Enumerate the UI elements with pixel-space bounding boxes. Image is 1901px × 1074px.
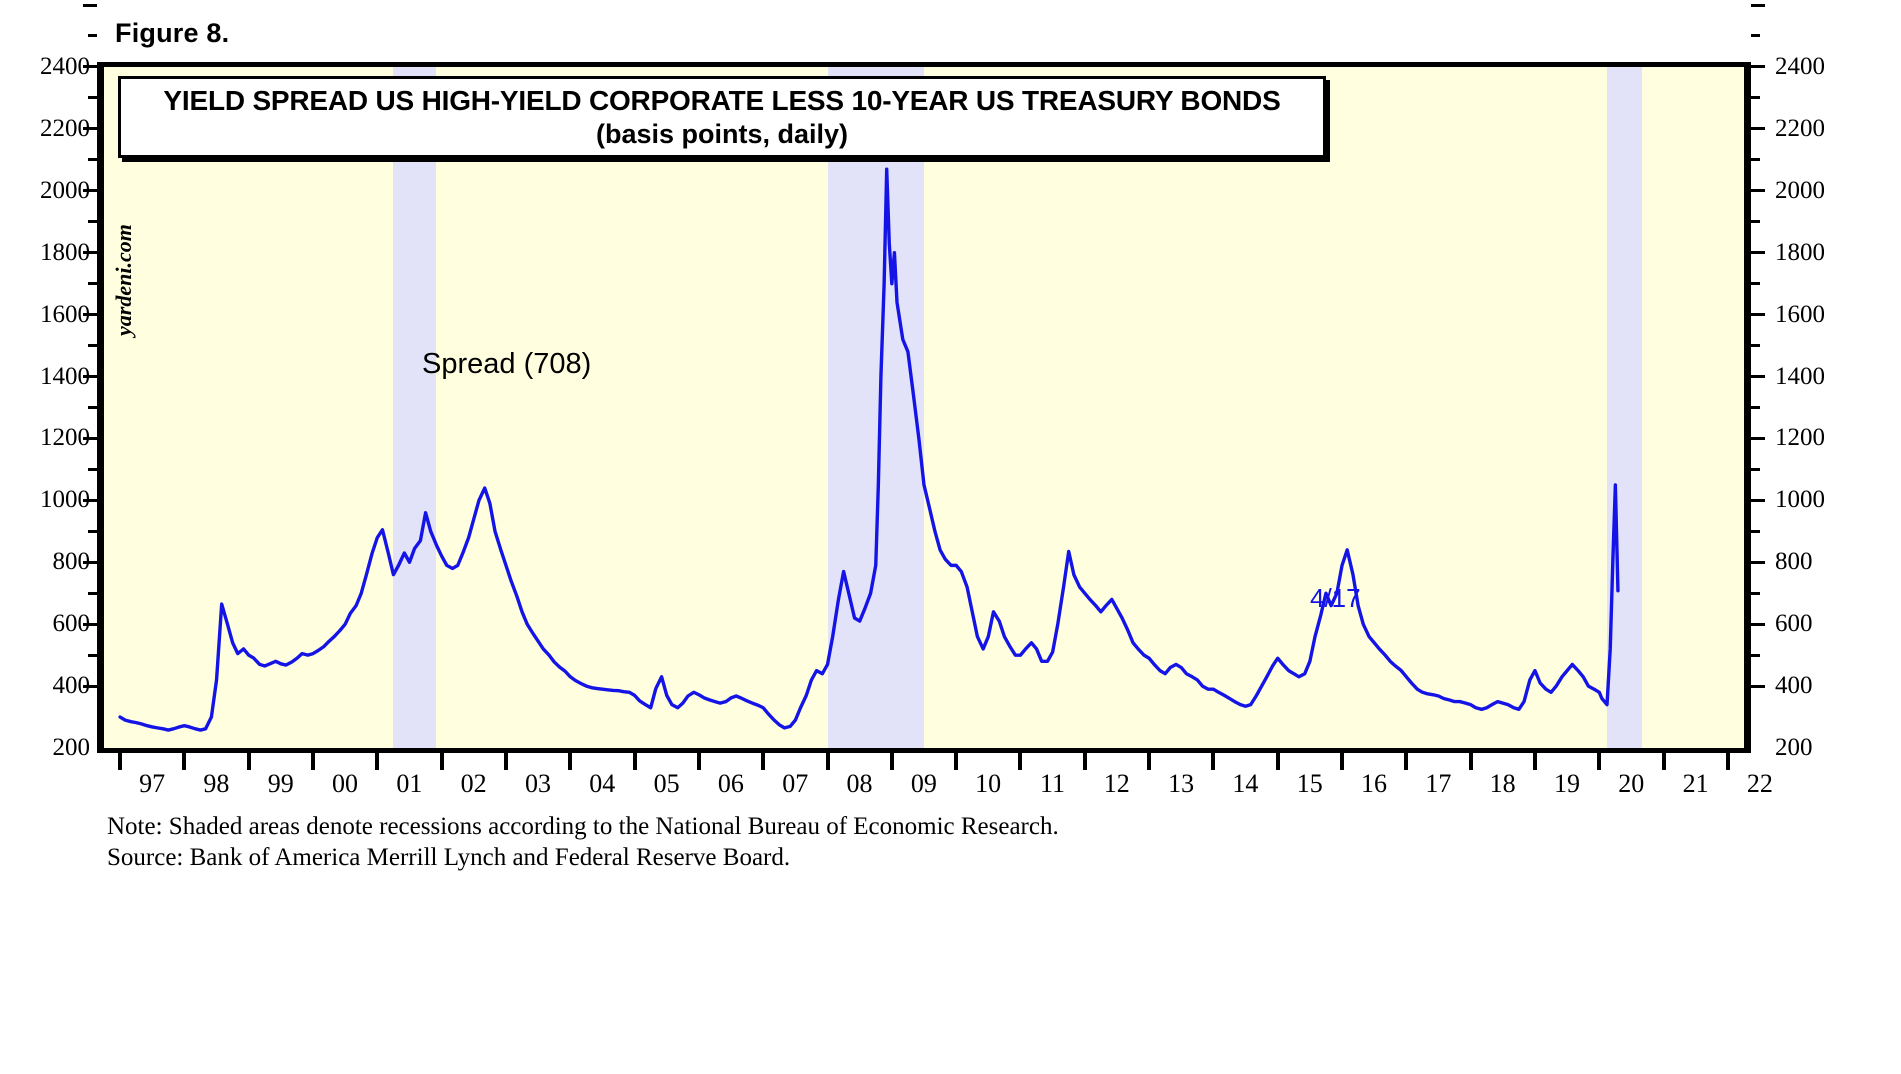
x-axis-tick-mark bbox=[118, 753, 122, 770]
x-axis-tick-label: 15 bbox=[1297, 769, 1323, 799]
x-axis-tick-label: 05 bbox=[654, 769, 680, 799]
y-axis-tick-mark-left bbox=[83, 251, 97, 254]
yardeni-watermark: yardeni.com bbox=[111, 224, 137, 336]
x-axis-tick-mark bbox=[440, 753, 444, 770]
y-axis-tick-label-left: 200 bbox=[53, 734, 91, 762]
x-axis-tick-mark bbox=[890, 753, 894, 770]
y-axis-tick-mark-right bbox=[1751, 561, 1765, 564]
y-axis-tick-label-right: 2400 bbox=[1775, 53, 1825, 81]
x-axis-tick-label: 01 bbox=[396, 769, 422, 799]
chart-title-line2: (basis points, daily) bbox=[596, 119, 848, 150]
y-axis-tick-label-right: 2000 bbox=[1775, 177, 1825, 205]
x-axis-tick-mark bbox=[1597, 753, 1601, 770]
x-axis-tick-mark bbox=[633, 753, 637, 770]
y-axis-tick-mark-right bbox=[1751, 592, 1760, 595]
x-axis-tick-mark bbox=[375, 753, 379, 770]
y-axis-tick-mark-left bbox=[88, 530, 97, 533]
y-axis-tick-mark-left bbox=[88, 468, 97, 471]
y-axis-left: 2004006008001000120014001600180020002200… bbox=[28, 62, 90, 753]
x-axis-tick-mark bbox=[761, 753, 765, 770]
x-axis: 9798990001020304050607080910111213141516… bbox=[97, 753, 1751, 813]
y-axis-tick-label-right: 800 bbox=[1775, 548, 1813, 576]
x-axis-tick-mark bbox=[1726, 753, 1730, 770]
y-axis-tick-mark-left bbox=[83, 499, 97, 502]
x-axis-tick-mark bbox=[1276, 753, 1280, 770]
x-axis-tick-label: 21 bbox=[1683, 769, 1709, 799]
y-axis-tick-mark-right bbox=[1751, 654, 1760, 657]
y-axis-tick-mark-right bbox=[1751, 623, 1765, 626]
y-axis-tick-mark-right bbox=[1751, 65, 1765, 68]
y-axis-tick-mark-right bbox=[1751, 406, 1760, 409]
y-axis-tick-mark-right bbox=[1751, 251, 1765, 254]
y-axis-tick-mark-left bbox=[83, 375, 97, 378]
x-axis-tick-label: 00 bbox=[332, 769, 358, 799]
x-axis-tick-label: 04 bbox=[589, 769, 615, 799]
x-axis-tick-mark bbox=[182, 753, 186, 770]
x-axis-tick-label: 17 bbox=[1425, 769, 1451, 799]
x-axis-tick-label: 06 bbox=[718, 769, 744, 799]
latest-date-annotation: 4/17 bbox=[1310, 583, 1361, 614]
y-axis-tick-mark-left bbox=[88, 96, 97, 99]
footnotes: Note: Shaded areas denote recessions acc… bbox=[107, 812, 1059, 873]
series-annotation-spread: Spread (708) bbox=[422, 348, 591, 381]
x-axis-tick-label: 07 bbox=[782, 769, 808, 799]
x-axis-tick-label: 18 bbox=[1490, 769, 1516, 799]
y-axis-tick-mark-left bbox=[83, 437, 97, 440]
x-axis-tick-label: 16 bbox=[1361, 769, 1387, 799]
x-axis-tick-label: 97 bbox=[139, 769, 165, 799]
y-axis-tick-mark-left bbox=[83, 4, 97, 7]
y-axis-tick-mark-right bbox=[1751, 282, 1760, 285]
y-axis-tick-label-right: 200 bbox=[1775, 734, 1813, 762]
y-axis-tick-label-right: 1400 bbox=[1775, 363, 1825, 391]
y-axis-tick-mark-right bbox=[1751, 468, 1760, 471]
y-axis-tick-mark-right bbox=[1751, 530, 1760, 533]
y-axis-tick-mark-right bbox=[1751, 375, 1765, 378]
x-axis-tick-mark bbox=[826, 753, 830, 770]
plot-canvas bbox=[104, 67, 1744, 748]
x-axis-tick-mark bbox=[568, 753, 572, 770]
x-axis-tick-mark bbox=[504, 753, 508, 770]
y-axis-tick-mark-left bbox=[88, 344, 97, 347]
y-axis-tick-mark-left bbox=[83, 623, 97, 626]
y-axis-tick-mark-left bbox=[88, 158, 97, 161]
x-axis-tick-mark bbox=[311, 753, 315, 770]
x-axis-tick-mark bbox=[1147, 753, 1151, 770]
footnote-source: Source: Bank of America Merrill Lynch an… bbox=[107, 843, 1059, 874]
x-axis-tick-label: 09 bbox=[911, 769, 937, 799]
y-axis-tick-mark-right bbox=[1751, 96, 1760, 99]
y-axis-tick-mark-right bbox=[1751, 220, 1760, 223]
y-axis-tick-mark-right bbox=[1751, 127, 1765, 130]
y-axis-tick-label-right: 1800 bbox=[1775, 239, 1825, 267]
y-axis-tick-label-right: 400 bbox=[1775, 672, 1813, 700]
y-axis-tick-mark-left bbox=[83, 127, 97, 130]
x-axis-tick-mark bbox=[1340, 753, 1344, 770]
y-axis-tick-mark-right bbox=[1751, 685, 1765, 688]
x-axis-tick-mark bbox=[1469, 753, 1473, 770]
y-axis-tick-label-right: 1000 bbox=[1775, 486, 1825, 514]
y-axis-tick-mark-right bbox=[1751, 189, 1765, 192]
y-axis-tick-mark-left bbox=[88, 406, 97, 409]
y-axis-tick-mark-left bbox=[88, 282, 97, 285]
y-axis-tick-mark-right bbox=[1751, 313, 1765, 316]
y-axis-tick-label-right: 600 bbox=[1775, 610, 1813, 638]
chart-title-line1: YIELD SPREAD US HIGH-YIELD CORPORATE LES… bbox=[163, 85, 1280, 117]
x-axis-tick-mark bbox=[1018, 753, 1022, 770]
x-axis-tick-mark bbox=[1404, 753, 1408, 770]
x-axis-tick-mark bbox=[697, 753, 701, 770]
y-axis-tick-mark-left bbox=[88, 220, 97, 223]
y-axis-tick-mark-left bbox=[83, 189, 97, 192]
x-axis-tick-label: 02 bbox=[461, 769, 487, 799]
y-axis-tick-mark-left bbox=[83, 561, 97, 564]
y-axis-tick-mark-right bbox=[1751, 34, 1760, 37]
x-axis-tick-mark bbox=[954, 753, 958, 770]
x-axis-tick-mark bbox=[1083, 753, 1087, 770]
series-line-spread bbox=[120, 169, 1618, 730]
x-axis-tick-label: 08 bbox=[847, 769, 873, 799]
x-axis-tick-mark bbox=[1662, 753, 1666, 770]
y-axis-tick-label-right: 2200 bbox=[1775, 115, 1825, 143]
x-axis-tick-label: 22 bbox=[1747, 769, 1773, 799]
x-axis-tick-label: 10 bbox=[975, 769, 1001, 799]
chart-title-box: YIELD SPREAD US HIGH-YIELD CORPORATE LES… bbox=[118, 76, 1326, 158]
y-axis-tick-mark-left bbox=[83, 685, 97, 688]
x-axis-tick-label: 03 bbox=[525, 769, 551, 799]
chart-plot-area[interactable] bbox=[97, 62, 1751, 753]
series-line-group bbox=[104, 67, 1744, 748]
y-axis-tick-mark-right bbox=[1751, 499, 1765, 502]
x-axis-tick-mark bbox=[1211, 753, 1215, 770]
y-axis-tick-mark-right bbox=[1751, 437, 1765, 440]
footnote-note: Note: Shaded areas denote recessions acc… bbox=[107, 812, 1059, 843]
x-axis-tick-label: 13 bbox=[1168, 769, 1194, 799]
y-axis-tick-mark-left bbox=[83, 65, 97, 68]
x-axis-tick-mark bbox=[247, 753, 251, 770]
y-axis-tick-mark-right bbox=[1751, 4, 1765, 7]
y-axis-tick-label-right: 1200 bbox=[1775, 424, 1825, 452]
y-axis-right: 2004006008001000120014001600180020002200… bbox=[1775, 62, 1837, 753]
x-axis-tick-label: 19 bbox=[1554, 769, 1580, 799]
x-axis-tick-label: 20 bbox=[1618, 769, 1644, 799]
x-axis-tick-label: 14 bbox=[1232, 769, 1258, 799]
y-axis-tick-mark-right bbox=[1751, 158, 1760, 161]
x-axis-tick-label: 99 bbox=[268, 769, 294, 799]
y-axis-tick-mark-left bbox=[83, 313, 97, 316]
y-axis-tick-label-right: 1600 bbox=[1775, 301, 1825, 329]
x-axis-tick-label: 12 bbox=[1104, 769, 1130, 799]
y-axis-tick-mark-left bbox=[88, 34, 97, 37]
figure-label: Figure 8. bbox=[115, 18, 229, 49]
y-axis-tick-mark-right bbox=[1751, 344, 1760, 347]
x-axis-tick-label: 11 bbox=[1040, 769, 1065, 799]
x-axis-tick-mark bbox=[1533, 753, 1537, 770]
x-axis-tick-label: 98 bbox=[203, 769, 229, 799]
y-axis-tick-mark-left bbox=[88, 592, 97, 595]
y-axis-tick-mark-left bbox=[88, 654, 97, 657]
